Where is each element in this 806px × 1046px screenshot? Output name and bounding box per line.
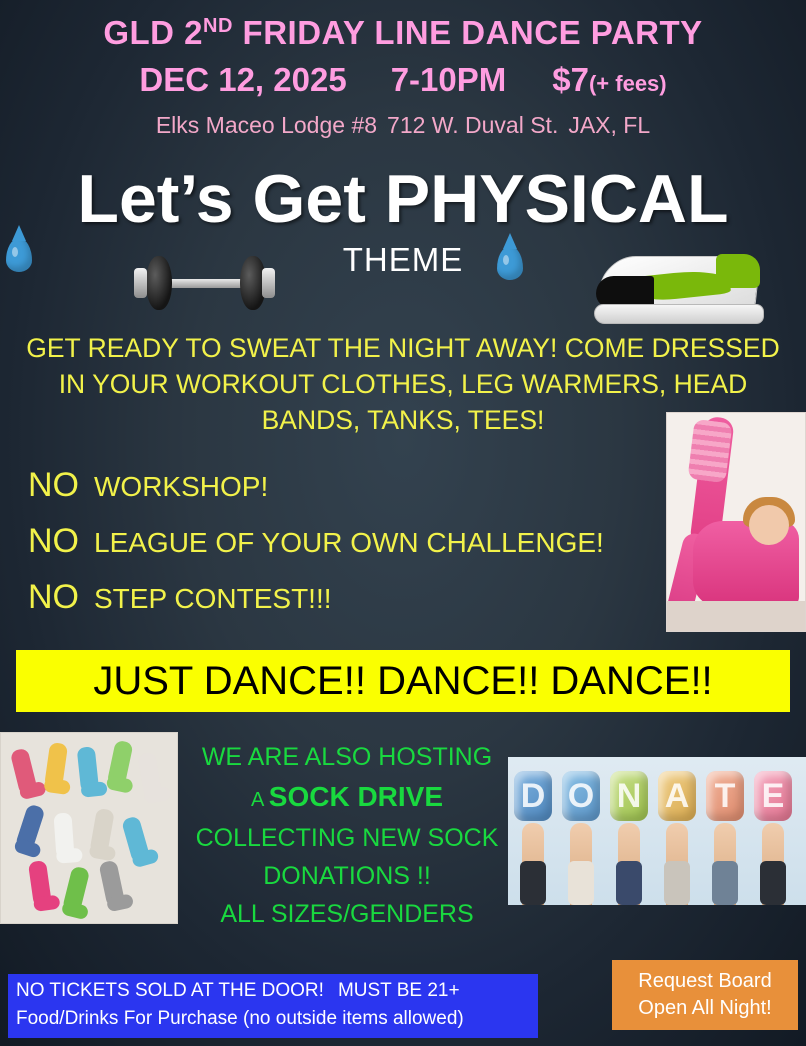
exclusions-list: NO WORKSHOP! NO LEAGUE OF YOUR OWN CHALL… <box>28 466 668 634</box>
event-venue-line: Elks Maceo Lodge #8712 W. Duval St.JAX, … <box>0 112 806 139</box>
sock-drive-line2: A SOCK DRIVE <box>186 776 508 819</box>
event-title-ordinal: ND <box>203 15 233 37</box>
sweat-drop-icon <box>6 238 32 272</box>
venue-address: 712 W. Duval St. <box>387 112 558 138</box>
donate-balloons-photo: D O N A T E <box>508 757 806 905</box>
event-title-rest: FRIDAY LINE DANCE PARTY <box>233 14 703 51</box>
sock-drive-line1: WE ARE ALSO HOSTING <box>186 738 508 776</box>
balloon-letter: O <box>562 771 600 821</box>
theme-title: Let’s Get PHYSICAL <box>0 165 806 233</box>
list-item: NO LEAGUE OF YOUR OWN CHALLENGE! <box>28 522 668 561</box>
sweat-drop-icon <box>497 246 523 280</box>
venue-city: JAX, FL <box>568 112 650 138</box>
sock-drive-line3: COLLECTING NEW SOCK <box>186 819 508 857</box>
event-title-main: GLD 2 <box>103 14 203 51</box>
event-price-fees: (+ fees) <box>589 71 667 96</box>
event-title: GLD 2ND FRIDAY LINE DANCE PARTY <box>0 14 806 52</box>
balloon-letter: A <box>658 771 696 821</box>
just-dance-banner: JUST DANCE!! DANCE!! DANCE!! <box>16 650 790 712</box>
exclusion-keyword: NO <box>28 578 79 617</box>
sock-drive-line4: DONATIONS !! <box>186 857 508 895</box>
balloon-letter: T <box>706 771 744 821</box>
venue-name: Elks Maceo Lodge #8 <box>156 112 377 138</box>
flyer-canvas: GLD 2ND FRIDAY LINE DANCE PARTY DEC 12, … <box>0 0 806 1046</box>
sock-drive-text: WE ARE ALSO HOSTING A SOCK DRIVE COLLECT… <box>186 738 508 933</box>
exclusion-keyword: NO <box>28 466 79 505</box>
sock-drive-line2-prefix: A <box>251 789 269 811</box>
event-date: DEC 12, 2025 <box>139 61 346 98</box>
request-board-line2: Open All Night! <box>618 995 792 1022</box>
footer-notice: NO TICKETS SOLD AT THE DOOR!MUST BE 21+ … <box>8 974 538 1038</box>
header-block: GLD 2ND FRIDAY LINE DANCE PARTY DEC 12, … <box>0 0 806 139</box>
sneaker-icon <box>594 246 764 334</box>
footer-notice-tickets: NO TICKETS SOLD AT THE DOOR! <box>16 980 324 1001</box>
sock-drive-highlight: SOCK DRIVE <box>269 781 443 812</box>
balloon-letter: D <box>514 771 552 821</box>
balloon-letter: E <box>754 771 792 821</box>
aerobics-photo <box>666 412 806 632</box>
exclusion-text: LEAGUE OF YOUR OWN CHALLENGE! <box>94 527 604 559</box>
event-time: 7-10PM <box>391 61 507 98</box>
socks-photo <box>0 732 178 924</box>
footer-notice-line1: NO TICKETS SOLD AT THE DOOR!MUST BE 21+ <box>16 980 530 1002</box>
exclusion-keyword: NO <box>28 522 79 561</box>
list-item: NO WORKSHOP! <box>28 466 668 505</box>
exclusion-text: WORKSHOP! <box>94 471 268 503</box>
footer-notice-age: MUST BE 21+ <box>338 980 460 1001</box>
event-date-time-price: DEC 12, 20257-10PM$7(+ fees) <box>0 61 806 99</box>
balloon-letter: N <box>610 771 648 821</box>
sock-drive-line5: ALL SIZES/GENDERS <box>186 895 508 933</box>
request-board-line1: Request Board <box>618 968 792 995</box>
dumbbell-icon <box>128 252 280 314</box>
exclusion-text: STEP CONTEST!!! <box>94 583 332 615</box>
list-item: NO STEP CONTEST!!! <box>28 578 668 617</box>
event-price: $7 <box>552 61 589 98</box>
request-board-badge: Request Board Open All Night! <box>612 960 798 1030</box>
just-dance-text: JUST DANCE!! DANCE!! DANCE!! <box>93 659 712 704</box>
footer-notice-line2: Food/Drinks For Purchase (no outside ite… <box>16 1008 530 1030</box>
